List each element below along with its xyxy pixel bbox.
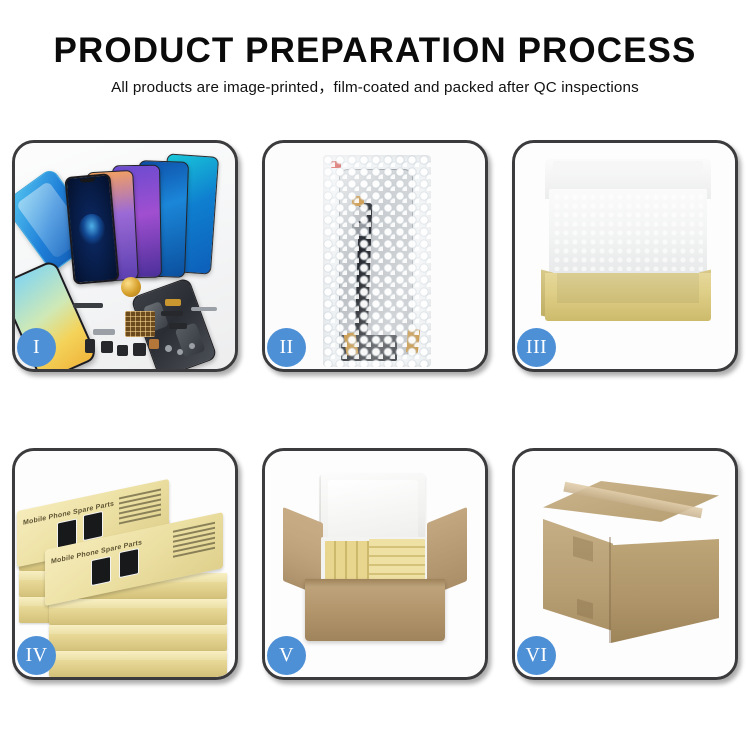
photo-boxed-units-stacked: Mobile Phone Spare Parts: [15, 451, 235, 677]
part-screw-2-icon: [177, 349, 183, 355]
part-bracket-icon: [93, 329, 115, 335]
page-header: PRODUCT PREPARATION PROCESS All products…: [0, 30, 750, 98]
part-flex-strip-icon: [73, 303, 103, 308]
lcd-red-sticker-icon: [331, 161, 341, 168]
lcd-camera-hole-icon: [353, 207, 367, 221]
step-badge-5: V: [267, 636, 306, 675]
box-label-screen-image-3: [91, 556, 111, 586]
step-badge-1: I: [17, 328, 56, 367]
product-preparation-page: PRODUCT PREPARATION PROCESS All products…: [0, 0, 750, 750]
inner-box-front-shadow-icon: [557, 273, 699, 303]
chip-array-icon: [125, 311, 155, 337]
lcd-flex-cable-icon: [355, 203, 373, 337]
step-badge-3: III: [517, 328, 556, 367]
bubble-wrap-bag-icon: [323, 155, 431, 367]
process-steps-grid: I II: [12, 140, 738, 680]
stacked-box-front-3: [49, 625, 227, 651]
part-antenna-strip-icon: [191, 307, 217, 311]
page-subtitle: All products are image-printed，film-coat…: [0, 78, 750, 98]
part-button-flex-icon: [161, 311, 183, 316]
box-label-screen-image-4: [119, 548, 139, 578]
box-edge-icon: [49, 651, 227, 660]
box-label-spec-lines-lower: [173, 522, 215, 565]
process-step-panel-3: III: [512, 140, 738, 372]
inner-box-foam-icon: [549, 189, 707, 275]
part-copper-coil-icon: [149, 339, 159, 349]
stacked-box-front-4: [49, 651, 227, 677]
step-badge-2: II: [267, 328, 306, 367]
photo-carton-loading: V: [265, 451, 485, 677]
part-camera-module-icon: [85, 339, 95, 353]
box-label-screen-image-2: [83, 511, 103, 541]
part-screw-1-icon: [165, 345, 172, 352]
box-label-spec-lines-upper: [119, 489, 161, 532]
step-badge-6: VI: [517, 636, 556, 675]
lcd-screen-assembly-icon: [339, 169, 413, 355]
speaker-coil-icon: [121, 277, 141, 297]
process-step-panel-1: I: [12, 140, 238, 372]
photo-inner-box-packing: III: [515, 143, 735, 369]
part-volume-flex-icon: [169, 323, 187, 329]
photo-raw-products-and-spare-parts: I: [15, 143, 235, 369]
carton-right-face-icon: [611, 539, 719, 643]
page-title: PRODUCT PREPARATION PROCESS: [0, 30, 750, 72]
sealed-carton-group: [539, 481, 719, 649]
part-earpiece-icon: [117, 345, 128, 356]
lcd-gold-contact-right-icon: [406, 328, 420, 353]
spare-parts-group: [73, 289, 223, 369]
phone-device-1-icon: [64, 173, 119, 285]
step-badge-4: IV: [17, 636, 56, 675]
photo-sealed-shipping-carton: VI: [515, 451, 735, 677]
carton-front-panel-icon: [305, 579, 445, 641]
lcd-gold-contact-top-icon: [352, 196, 364, 206]
box-edge-icon: [49, 625, 227, 634]
part-vibrator-icon: [101, 341, 113, 353]
part-gold-connector-icon: [165, 299, 181, 306]
photo-bubble-wrap-packing: II: [265, 143, 485, 369]
lcd-connector-icon: [352, 223, 369, 236]
process-step-panel-5: V: [262, 448, 488, 680]
lcd-gold-contact-left-icon: [344, 332, 359, 355]
process-step-panel-4: Mobile Phone Spare Parts: [12, 448, 238, 680]
part-screw-3-icon: [189, 343, 195, 349]
box-edge-icon: [49, 599, 227, 608]
stacked-box-front-2: [49, 599, 227, 625]
process-step-panel-2: II: [262, 140, 488, 372]
part-speaker-icon: [133, 343, 146, 356]
phone-notch-icon: [80, 177, 96, 182]
process-step-panel-6: VI: [512, 448, 738, 680]
inner-box-front-panel-icon: [545, 273, 711, 321]
carton-corner-seam-icon: [609, 537, 611, 643]
lcd-driver-board-icon: [341, 335, 397, 361]
